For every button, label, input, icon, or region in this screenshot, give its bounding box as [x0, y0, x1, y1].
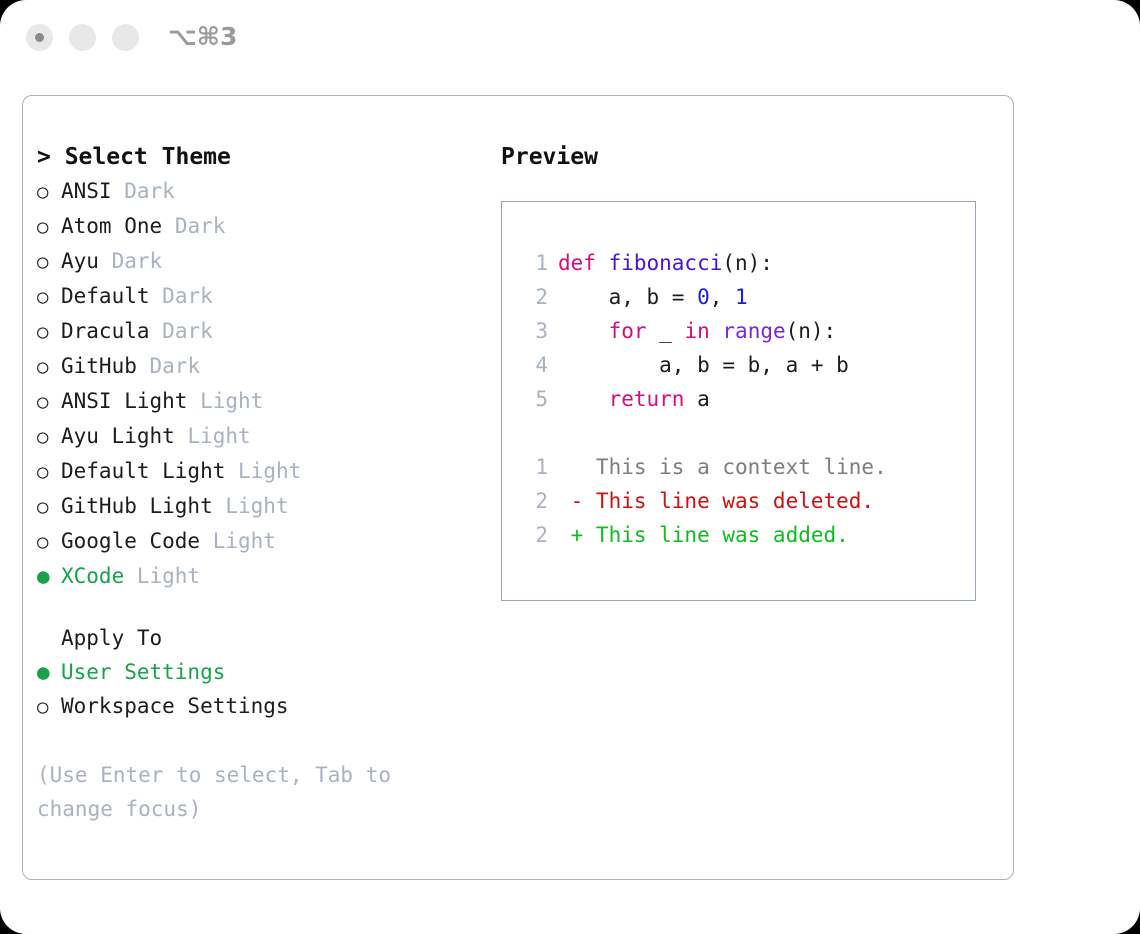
code-token — [710, 319, 723, 343]
code-token: 1 — [735, 285, 748, 309]
radio-unselected-icon: ○ — [37, 690, 61, 724]
theme-label-gap — [162, 214, 175, 238]
theme-name: Default Light — [61, 459, 225, 483]
code-token: def — [558, 251, 609, 275]
theme-list: ○ANSI Dark○Atom One Dark○Ayu Dark○Defaul… — [37, 174, 492, 593]
apply-to-title: Apply To — [37, 621, 492, 655]
code-line: 1def fibonacci(n): — [502, 246, 975, 280]
theme-label-gap — [213, 494, 226, 518]
theme-name: GitHub Light — [61, 494, 213, 518]
list-spacer — [37, 593, 492, 621]
radio-unselected-icon: ○ — [37, 385, 61, 419]
theme-list-item[interactable]: ○Default Dark — [37, 279, 492, 314]
code-token — [558, 319, 609, 343]
radio-unselected-icon: ○ — [37, 210, 61, 244]
theme-name: XCode — [61, 564, 124, 588]
theme-list-item[interactable]: ○Atom One Dark — [37, 209, 492, 244]
theme-variant-tag: Light — [137, 564, 200, 588]
theme-list-item[interactable]: ○Google Code Light — [37, 524, 492, 559]
code-block: 1def fibonacci(n):2 a, b = 0, 13 for _ i… — [502, 246, 975, 416]
keyboard-shortcut-label: ⌥⌘3 — [168, 22, 237, 51]
theme-label-gap — [137, 354, 150, 378]
theme-name: ANSI — [61, 179, 112, 203]
code-token: a — [684, 387, 709, 411]
code-line: 2 a, b = 0, 1 — [502, 280, 975, 314]
code-token: 0 — [697, 285, 710, 309]
line-number: 5 — [522, 382, 548, 416]
theme-label-gap — [99, 249, 112, 273]
line-number: 1 — [522, 450, 548, 484]
code-token: fibonacci — [609, 251, 723, 275]
apply-to-list: ●User Settings○Workspace Settings — [37, 655, 492, 724]
theme-variant-tag: Light — [200, 389, 263, 413]
theme-label-gap — [175, 424, 188, 448]
theme-list-item[interactable]: ○GitHub Light Light — [37, 489, 492, 524]
theme-variant-tag: Dark — [124, 179, 175, 203]
line-number: 3 — [522, 314, 548, 348]
radio-unselected-icon: ○ — [37, 490, 61, 524]
code-token: (n): — [786, 319, 837, 343]
radio-unselected-icon: ○ — [37, 280, 61, 314]
radio-unselected-icon: ○ — [37, 455, 61, 489]
code-token: return — [609, 387, 685, 411]
theme-list-item[interactable]: ○ANSI Light Light — [37, 384, 492, 419]
window-dot-two[interactable] — [69, 24, 96, 51]
theme-label-gap — [150, 284, 163, 308]
theme-label-gap — [187, 389, 200, 413]
radio-unselected-icon: ○ — [37, 175, 61, 209]
app-window: ⌥⌘3 > Select Theme ○ANSI Dark○Atom One D… — [0, 0, 1140, 934]
theme-name: Ayu — [61, 249, 99, 273]
theme-variant-tag: Light — [213, 529, 276, 553]
code-token: (n): — [722, 251, 773, 275]
diff-block: 1 This is a context line.2 - This line w… — [502, 450, 975, 552]
window-dot-active[interactable] — [26, 24, 53, 51]
code-token: , — [710, 285, 735, 309]
radio-selected-icon: ● — [37, 655, 61, 689]
theme-list-item[interactable]: ○Ayu Light Light — [37, 419, 492, 454]
theme-list-item[interactable]: ○Ayu Dark — [37, 244, 492, 279]
theme-list-item[interactable]: ○Default Light Light — [37, 454, 492, 489]
theme-label-gap — [150, 319, 163, 343]
code-line: 4 a, b = b, a + b — [502, 348, 975, 382]
hint-spacer — [37, 724, 492, 758]
window-dot-active-inner — [35, 33, 44, 42]
theme-selector-column: > Select Theme ○ANSI Dark○Atom One Dark○… — [37, 140, 492, 826]
line-number: 2 — [522, 518, 548, 552]
theme-name: Atom One — [61, 214, 162, 238]
code-token: range — [722, 319, 785, 343]
theme-label-gap — [124, 564, 137, 588]
theme-list-item[interactable]: ○Dracula Dark — [37, 314, 492, 349]
window-controls — [26, 24, 139, 51]
theme-list-item[interactable]: ●XCode Light — [37, 559, 492, 593]
line-number: 2 — [522, 280, 548, 314]
code-token: a, b = — [558, 285, 697, 309]
code-line: 5 return a — [502, 382, 975, 416]
theme-variant-tag: Dark — [175, 214, 226, 238]
theme-variant-tag: Light — [187, 424, 250, 448]
select-theme-header: > Select Theme — [37, 140, 492, 174]
radio-unselected-icon: ○ — [37, 420, 61, 454]
diff-line: 1 This is a context line. — [502, 450, 975, 484]
theme-variant-tag: Light — [225, 494, 288, 518]
title-bar: ⌥⌘3 — [0, 0, 1140, 78]
code-diff-spacer — [502, 416, 975, 450]
theme-label-gap — [200, 529, 213, 553]
code-token: + This line was added. — [558, 523, 849, 547]
line-number: 2 — [522, 484, 548, 518]
theme-name: Dracula — [61, 319, 150, 343]
theme-label-gap — [225, 459, 238, 483]
preview-column: Preview 1def fibonacci(n):2 a, b = 0, 13… — [501, 140, 1001, 601]
main-panel: > Select Theme ○ANSI Dark○Atom One Dark○… — [22, 95, 1014, 880]
theme-list-item[interactable]: ○ANSI Dark — [37, 174, 492, 209]
radio-unselected-icon: ○ — [37, 315, 61, 349]
code-token: This is a context line. — [558, 455, 887, 479]
diff-line: 2 - This line was deleted. — [502, 484, 975, 518]
code-token: in — [684, 319, 709, 343]
line-number: 4 — [522, 348, 548, 382]
code-token: for — [609, 319, 647, 343]
radio-unselected-icon: ○ — [37, 350, 61, 384]
code-token: - This line was deleted. — [558, 489, 874, 513]
preview-box: 1def fibonacci(n):2 a, b = 0, 13 for _ i… — [501, 201, 976, 601]
apply-to-item[interactable]: ○Workspace Settings — [37, 689, 492, 724]
apply-to-item[interactable]: ●User Settings — [37, 655, 492, 689]
theme-variant-tag: Dark — [112, 249, 163, 273]
theme-variant-tag: Dark — [150, 354, 201, 378]
window-dot-three[interactable] — [112, 24, 139, 51]
radio-unselected-icon: ○ — [37, 525, 61, 559]
apply-to-label: Workspace Settings — [61, 694, 289, 718]
diff-line: 2 + This line was added. — [502, 518, 975, 552]
theme-variant-tag: Dark — [162, 319, 213, 343]
theme-variant-tag: Dark — [162, 284, 213, 308]
code-token — [558, 387, 609, 411]
radio-unselected-icon: ○ — [37, 245, 61, 279]
theme-name: ANSI Light — [61, 389, 187, 413]
code-token: _ — [647, 319, 685, 343]
apply-to-label: User Settings — [61, 660, 225, 684]
theme-name: GitHub — [61, 354, 137, 378]
code-line: 3 for _ in range(n): — [502, 314, 975, 348]
theme-variant-tag: Light — [238, 459, 301, 483]
theme-label-gap — [112, 179, 125, 203]
line-number: 1 — [522, 246, 548, 280]
keyboard-hint: (Use Enter to select, Tab to change focu… — [37, 758, 447, 826]
theme-name: Google Code — [61, 529, 200, 553]
theme-name: Ayu Light — [61, 424, 175, 448]
radio-selected-icon: ● — [37, 559, 61, 593]
preview-title: Preview — [501, 140, 1001, 174]
theme-name: Default — [61, 284, 150, 308]
code-token: a, b = b, a + b — [558, 353, 849, 377]
theme-list-item[interactable]: ○GitHub Dark — [37, 349, 492, 384]
